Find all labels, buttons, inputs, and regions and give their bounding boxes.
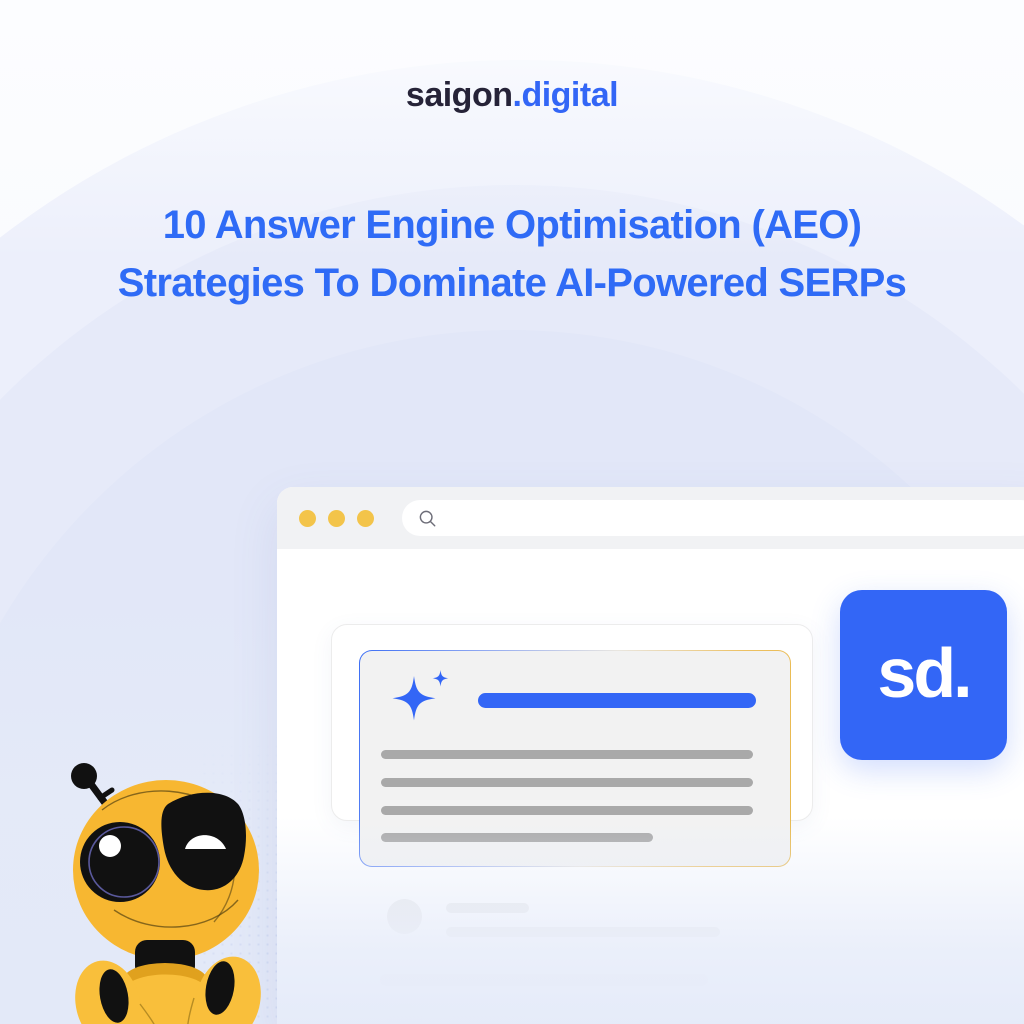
search-result-row[interactable] — [387, 1004, 720, 1024]
brand-logo-tile: sd. — [840, 590, 1007, 760]
browser-titlebar — [277, 487, 1024, 549]
ai-sparkle-icon — [383, 668, 457, 732]
avatar — [387, 899, 422, 934]
page-title-line-2: Strategies To Dominate AI-Powered SERPs — [58, 254, 966, 312]
ai-answer-title-placeholder — [478, 693, 756, 708]
ai-answer-skeleton-line — [381, 833, 653, 842]
ai-answer-skeleton-line — [381, 778, 753, 787]
brand-logo-tld: .digital — [513, 76, 619, 114]
brand-logo-name: saigon — [406, 76, 513, 114]
avatar — [387, 1004, 422, 1024]
search-result-row[interactable] — [387, 899, 720, 937]
result-skeleton-wide-line — [380, 974, 708, 986]
traffic-light-maximise-icon[interactable] — [357, 510, 374, 527]
ai-answer-skeleton-line — [381, 806, 753, 815]
ai-answer-skeleton-line — [381, 750, 753, 759]
robot-mascot — [42, 752, 292, 1024]
search-icon — [418, 509, 437, 528]
brand-logo-tile-label: sd. — [877, 638, 969, 708]
page-title-line-1: 10 Answer Engine Optimisation (AEO) — [163, 203, 862, 247]
result-skeleton-line — [446, 1008, 529, 1018]
result-skeleton-line — [446, 927, 720, 937]
search-input[interactable] — [402, 500, 1024, 536]
result-skeleton-line — [446, 903, 529, 913]
brand-logo: saigon.digital — [0, 76, 1024, 115]
ai-answer-card[interactable] — [359, 650, 791, 867]
page-title: 10 Answer Engine Optimisation (AEO) Stra… — [58, 196, 966, 313]
traffic-light-close-icon[interactable] — [299, 510, 316, 527]
traffic-light-minimise-icon[interactable] — [328, 510, 345, 527]
